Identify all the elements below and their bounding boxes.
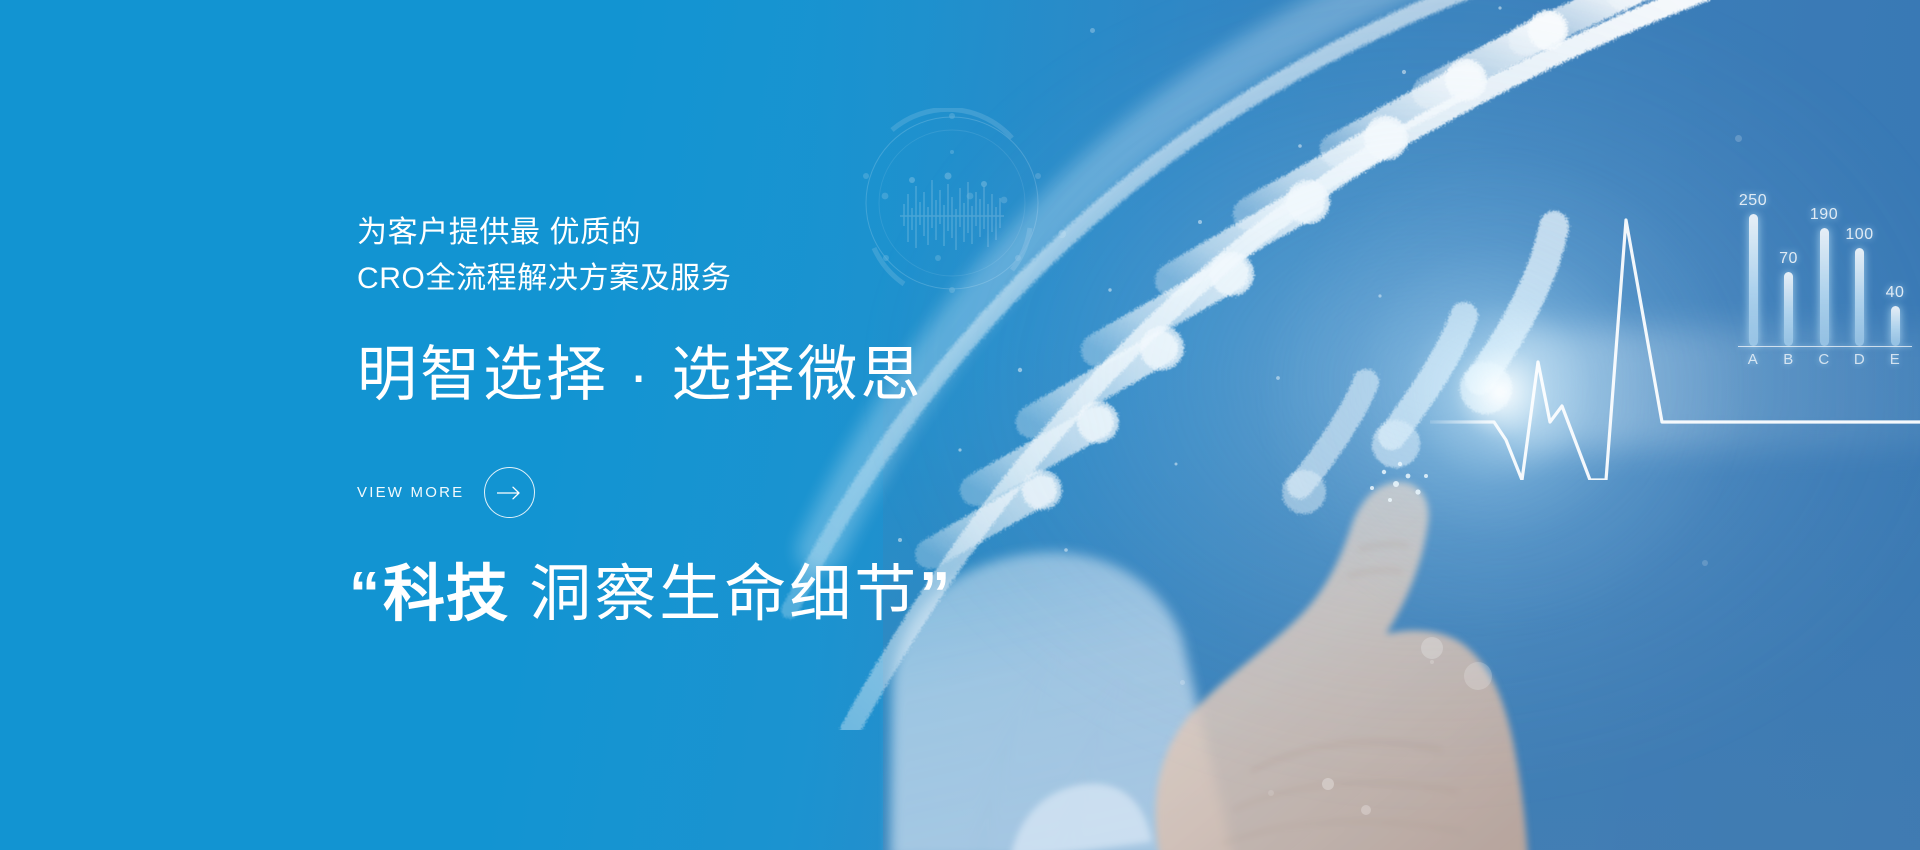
view-more-label: VIEW MORE [357, 484, 464, 501]
subtitle-line-1: 为客户提供最 优质的 [357, 210, 731, 256]
category-label: B [1778, 351, 1800, 368]
category-label: A [1742, 351, 1764, 368]
bar-column: 70 [1778, 188, 1800, 346]
category-label: D [1849, 351, 1871, 368]
bar-rect [1820, 228, 1829, 346]
bar-column: 250 [1742, 188, 1764, 346]
quote-close-mark: ” [919, 560, 953, 629]
bar-value-label: 190 [1810, 206, 1838, 224]
subtitle-line-2: CRO全流程解决方案及服务 [357, 256, 731, 302]
bar-chart-plot: 250 70 190 100 40 [1736, 188, 1912, 346]
bar-column: 100 [1849, 188, 1871, 346]
bar-chart-axis [1738, 346, 1912, 347]
quote-emphasis: 科技 [383, 560, 509, 629]
hero-banner: 250 70 190 100 40 A B C [0, 0, 1920, 850]
bar-chart-category-labels: A B C D E [1736, 351, 1912, 368]
bar-value-label: 70 [1779, 250, 1798, 268]
bar-rect [1855, 248, 1864, 346]
quote-rest: 洞察生命细节 [509, 560, 919, 629]
bar-column: 190 [1813, 188, 1835, 346]
category-label: E [1884, 351, 1906, 368]
bar-chart: 250 70 190 100 40 A B C [1736, 188, 1912, 384]
quote-open-mark: “ [349, 560, 383, 629]
bar-column: 40 [1884, 188, 1906, 346]
category-label: C [1813, 351, 1835, 368]
bar-value-label: 100 [1845, 226, 1873, 244]
hero-headline: 明智选择 · 选择微思 [357, 340, 923, 409]
bar-rect [1891, 306, 1900, 346]
arrow-right-icon[interactable] [484, 467, 535, 518]
hero-content: 为客户提供最 优质的 CRO全流程解决方案及服务 明智选择 · 选择微思 VIE… [357, 0, 1117, 850]
view-more-button[interactable]: VIEW MORE [357, 467, 535, 518]
bar-value-label: 40 [1886, 284, 1905, 302]
hero-subtitle: 为客户提供最 优质的 CRO全流程解决方案及服务 [357, 210, 731, 301]
bar-rect [1749, 214, 1758, 346]
bar-rect [1784, 272, 1793, 346]
hero-quote: “科技 洞察生命细节” [349, 558, 953, 632]
bar-value-label: 250 [1739, 192, 1767, 210]
